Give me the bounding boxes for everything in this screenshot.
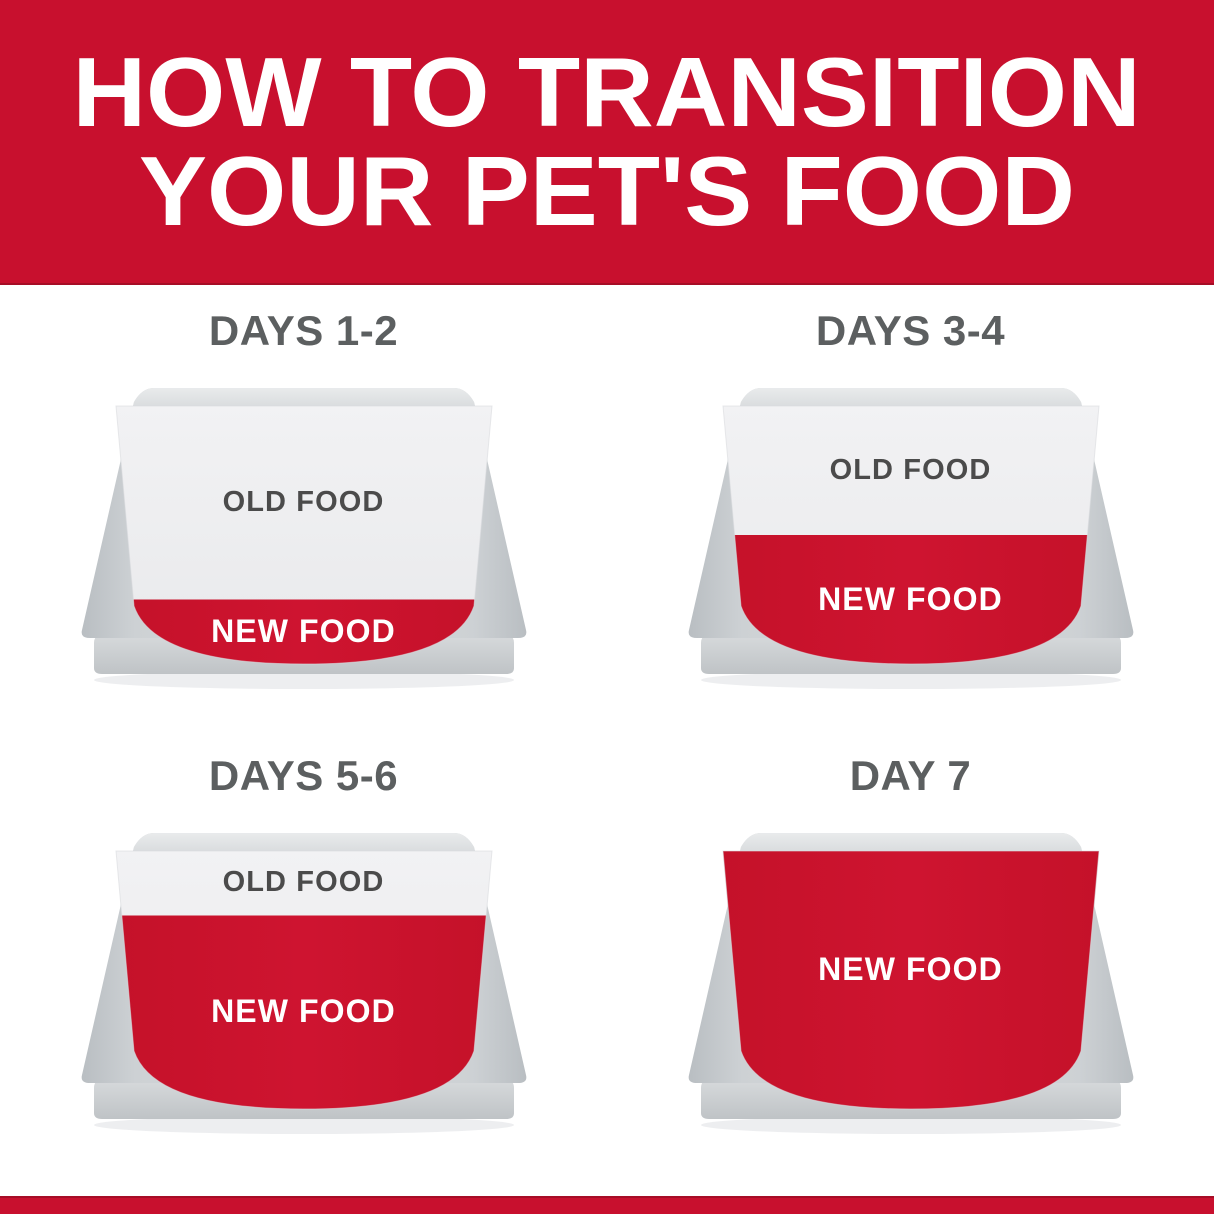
step-label-days-3-4: DAYS 3-4 <box>607 310 1214 352</box>
header-title-line-2: YOUR PET'S FOOD <box>139 144 1075 238</box>
step-label-day-7: DAY 7 <box>607 755 1214 797</box>
bowl-days-3-4: OLD FOOD NEW FOOD <box>661 368 1161 698</box>
step-card-days-1-2: DAYS 1-2 <box>0 310 607 750</box>
infographic-page: HOW TO TRANSITION YOUR PET'S FOOD DAYS 1… <box>0 0 1214 1214</box>
bottom-red-rule <box>0 1196 1214 1214</box>
step-label-days-5-6: DAYS 5-6 <box>0 755 607 797</box>
step-card-days-3-4: DAYS 3-4 <box>607 310 1214 750</box>
bowl-days-5-6: OLD FOOD NEW FOOD <box>54 813 554 1143</box>
bowl-illustration <box>54 813 554 1143</box>
bowl-illustration <box>54 368 554 698</box>
header-title-line-1: HOW TO TRANSITION <box>73 45 1141 139</box>
header-banner: HOW TO TRANSITION YOUR PET'S FOOD <box>0 0 1214 285</box>
bowl-illustration <box>661 813 1161 1143</box>
step-label-days-1-2: DAYS 1-2 <box>0 310 607 352</box>
step-card-day-7: DAY 7 <box>607 755 1214 1195</box>
step-card-days-5-6: DAYS 5-6 <box>0 755 607 1195</box>
steps-grid: DAYS 1-2 <box>0 285 1214 1196</box>
bowl-day-7: NEW FOOD <box>661 813 1161 1143</box>
bowl-days-1-2: OLD FOOD NEW FOOD <box>54 368 554 698</box>
bowl-illustration <box>661 368 1161 698</box>
